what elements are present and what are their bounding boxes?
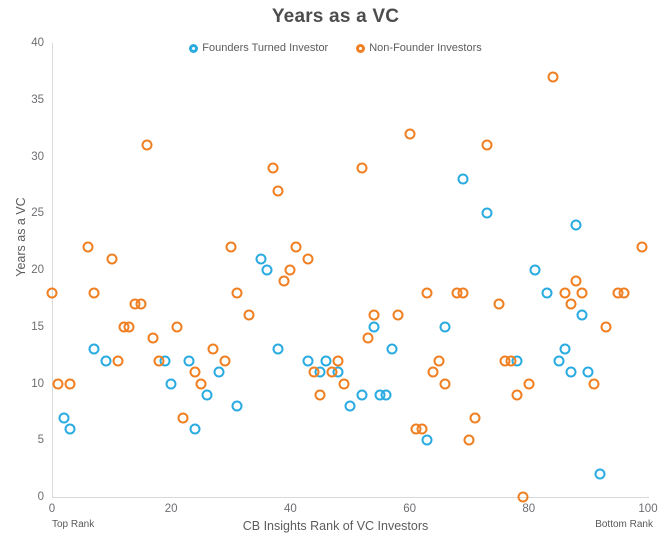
data-point bbox=[428, 367, 439, 378]
data-point bbox=[321, 355, 332, 366]
data-point bbox=[577, 287, 588, 298]
data-point bbox=[333, 355, 344, 366]
data-point bbox=[154, 355, 165, 366]
data-point bbox=[172, 321, 183, 332]
data-point bbox=[458, 174, 469, 185]
data-point bbox=[136, 299, 147, 310]
data-point bbox=[58, 412, 69, 423]
x-tick-label: 60 bbox=[403, 503, 416, 515]
data-point bbox=[559, 344, 570, 355]
data-point bbox=[100, 355, 111, 366]
y-tick-label: 5 bbox=[10, 434, 44, 446]
data-point bbox=[279, 276, 290, 287]
data-point bbox=[88, 344, 99, 355]
data-point bbox=[166, 378, 177, 389]
data-point bbox=[190, 423, 201, 434]
y-tick-label: 10 bbox=[10, 378, 44, 390]
data-point bbox=[464, 435, 475, 446]
data-point bbox=[553, 355, 564, 366]
x-tick-label: 0 bbox=[49, 503, 55, 515]
data-point bbox=[47, 287, 58, 298]
data-point bbox=[595, 469, 606, 480]
y-tick-label: 30 bbox=[10, 151, 44, 163]
x-tick-label: 80 bbox=[522, 503, 535, 515]
data-point bbox=[517, 492, 528, 503]
data-point bbox=[339, 378, 350, 389]
data-point bbox=[571, 219, 582, 230]
data-point bbox=[112, 355, 123, 366]
data-point bbox=[52, 378, 63, 389]
data-point bbox=[637, 242, 648, 253]
data-point bbox=[267, 162, 278, 173]
data-point bbox=[345, 401, 356, 412]
data-point bbox=[362, 333, 373, 344]
x-axis-bottom-rank-note: Bottom Rank bbox=[595, 519, 653, 530]
scatter-chart: Years as a VC Founders Turned Investor N… bbox=[0, 0, 671, 546]
data-point bbox=[565, 299, 576, 310]
data-point bbox=[458, 287, 469, 298]
y-tick-label: 15 bbox=[10, 321, 44, 333]
data-point bbox=[213, 367, 224, 378]
data-point bbox=[523, 378, 534, 389]
x-axis-top-rank-note: Top Rank bbox=[52, 519, 94, 530]
data-point bbox=[356, 389, 367, 400]
data-point bbox=[505, 355, 516, 366]
data-point bbox=[124, 321, 135, 332]
data-point bbox=[64, 378, 75, 389]
data-point bbox=[190, 367, 201, 378]
data-point bbox=[416, 423, 427, 434]
data-point bbox=[482, 208, 493, 219]
data-point bbox=[88, 287, 99, 298]
data-point bbox=[285, 265, 296, 276]
data-point bbox=[565, 367, 576, 378]
data-point bbox=[273, 344, 284, 355]
data-point bbox=[64, 423, 75, 434]
x-tick-label: 20 bbox=[165, 503, 178, 515]
data-point bbox=[440, 321, 451, 332]
data-point bbox=[422, 287, 433, 298]
data-point bbox=[577, 310, 588, 321]
data-point bbox=[231, 401, 242, 412]
data-point bbox=[511, 389, 522, 400]
data-point bbox=[207, 344, 218, 355]
data-point bbox=[422, 435, 433, 446]
data-point bbox=[494, 299, 505, 310]
data-point bbox=[482, 140, 493, 151]
x-axis-title: CB Insights Rank of VC Investors bbox=[0, 519, 671, 533]
data-point bbox=[368, 310, 379, 321]
data-point bbox=[559, 287, 570, 298]
data-point bbox=[434, 355, 445, 366]
data-point bbox=[619, 287, 630, 298]
y-tick-label: 35 bbox=[10, 94, 44, 106]
data-point bbox=[392, 310, 403, 321]
data-point bbox=[589, 378, 600, 389]
data-point bbox=[440, 378, 451, 389]
data-point bbox=[368, 321, 379, 332]
data-point bbox=[327, 367, 338, 378]
data-point bbox=[273, 185, 284, 196]
data-point bbox=[309, 367, 320, 378]
data-point bbox=[261, 265, 272, 276]
data-point bbox=[196, 378, 207, 389]
data-point bbox=[404, 128, 415, 139]
y-axis-title: Years as a VC bbox=[14, 172, 28, 302]
data-point bbox=[315, 389, 326, 400]
data-point bbox=[583, 367, 594, 378]
x-tick-label: 40 bbox=[284, 503, 297, 515]
data-point bbox=[547, 72, 558, 83]
data-point bbox=[291, 242, 302, 253]
data-point bbox=[386, 344, 397, 355]
data-point bbox=[356, 162, 367, 173]
x-axis-line bbox=[52, 497, 649, 498]
data-point bbox=[219, 355, 230, 366]
y-tick-label: 40 bbox=[10, 37, 44, 49]
data-point bbox=[470, 412, 481, 423]
data-point bbox=[201, 389, 212, 400]
data-point bbox=[529, 265, 540, 276]
plot-area bbox=[52, 43, 648, 497]
data-point bbox=[303, 253, 314, 264]
data-point bbox=[231, 287, 242, 298]
data-point bbox=[243, 310, 254, 321]
data-point bbox=[225, 242, 236, 253]
data-point bbox=[255, 253, 266, 264]
data-point bbox=[142, 140, 153, 151]
y-tick-label: 0 bbox=[10, 491, 44, 503]
data-point bbox=[184, 355, 195, 366]
x-tick-label: 100 bbox=[638, 503, 657, 515]
chart-title: Years as a VC bbox=[0, 6, 671, 28]
data-point bbox=[601, 321, 612, 332]
data-point bbox=[178, 412, 189, 423]
data-point bbox=[148, 333, 159, 344]
data-point bbox=[106, 253, 117, 264]
data-point bbox=[303, 355, 314, 366]
data-point bbox=[571, 276, 582, 287]
data-point bbox=[541, 287, 552, 298]
data-point bbox=[380, 389, 391, 400]
data-point bbox=[82, 242, 93, 253]
